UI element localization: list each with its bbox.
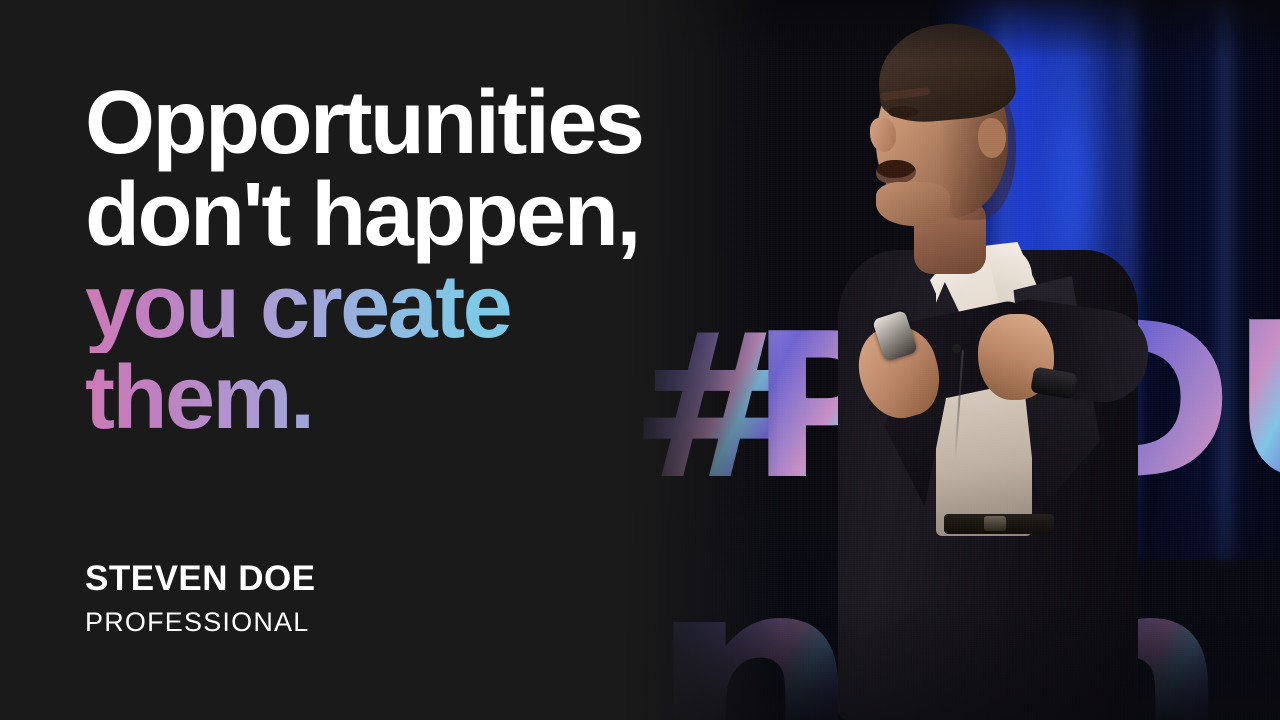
quote-headline: Opportunities don't happen, you create t… — [85, 78, 785, 445]
speaker-credit: STEVEN DOE PROFESSIONAL — [85, 558, 316, 640]
speaker-eye — [888, 106, 918, 118]
speaker-role: PROFESSIONAL — [85, 604, 316, 640]
headline-line-4: them. — [85, 353, 785, 445]
headline-line-1: Opportunities — [85, 78, 785, 170]
presentation-slide: # P DU n n — [0, 0, 1280, 720]
speaker-nose — [870, 118, 896, 152]
speaker-name: STEVEN DOE — [85, 558, 316, 600]
headline-line-2: don't happen, — [85, 170, 785, 262]
speaker-figure — [818, 14, 1148, 720]
belt-buckle — [984, 516, 1006, 531]
speaker-ear — [978, 118, 1006, 158]
headline-line-3: you create — [85, 262, 785, 354]
lapel-microphone — [952, 344, 961, 353]
speaker-chin — [876, 182, 950, 226]
